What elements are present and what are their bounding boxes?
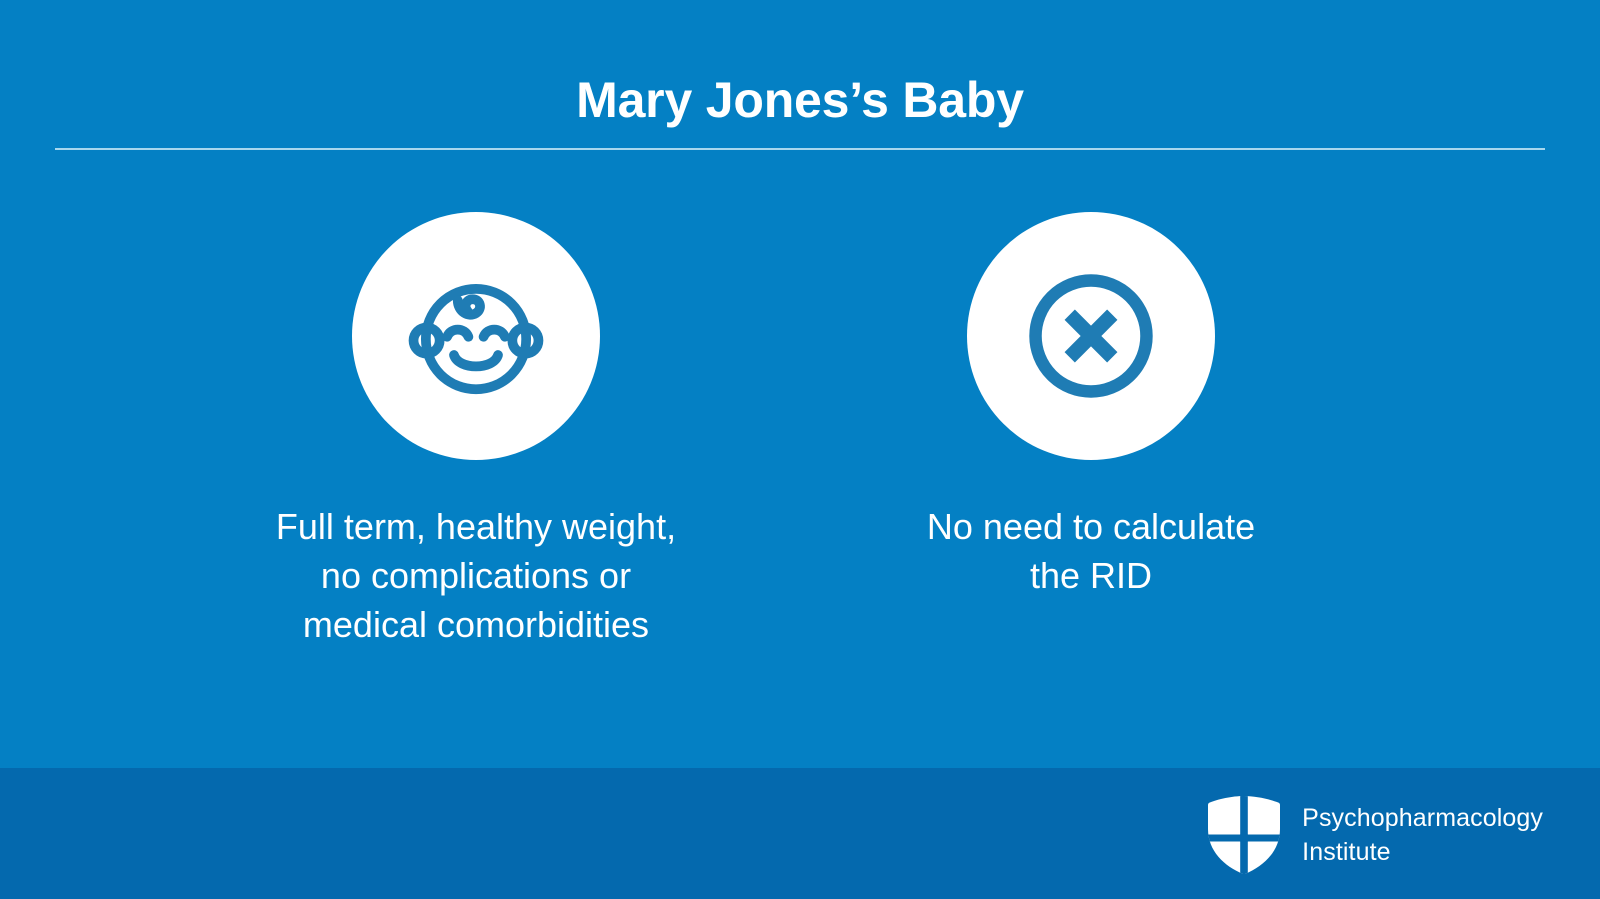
title-area: Mary Jones’s Baby — [0, 0, 1600, 150]
baby-face-icon — [400, 260, 552, 412]
slide-root: Mary Jones’s Baby — [0, 0, 1600, 899]
content-column-rid: No need to calculate the RID — [831, 212, 1351, 600]
baby-icon-badge — [352, 212, 600, 460]
footer-bar: Psychopharmacology Institute — [0, 768, 1600, 899]
content-column-baby: Full term, healthy weight, no complicati… — [216, 212, 736, 649]
circle-x-icon — [1015, 260, 1167, 412]
brand-name: Psychopharmacology Institute — [1302, 801, 1543, 869]
caption-rid: No need to calculate the RID — [831, 502, 1351, 600]
title-divider — [55, 148, 1545, 150]
shield-cross-logo — [1208, 796, 1280, 874]
circle-x-icon-badge — [967, 212, 1215, 460]
content-area: Full term, healthy weight, no complicati… — [0, 212, 1600, 682]
page-title: Mary Jones’s Baby — [0, 70, 1600, 130]
caption-baby: Full term, healthy weight, no complicati… — [216, 502, 736, 649]
brand-lockup: Psychopharmacology Institute — [1208, 796, 1543, 874]
